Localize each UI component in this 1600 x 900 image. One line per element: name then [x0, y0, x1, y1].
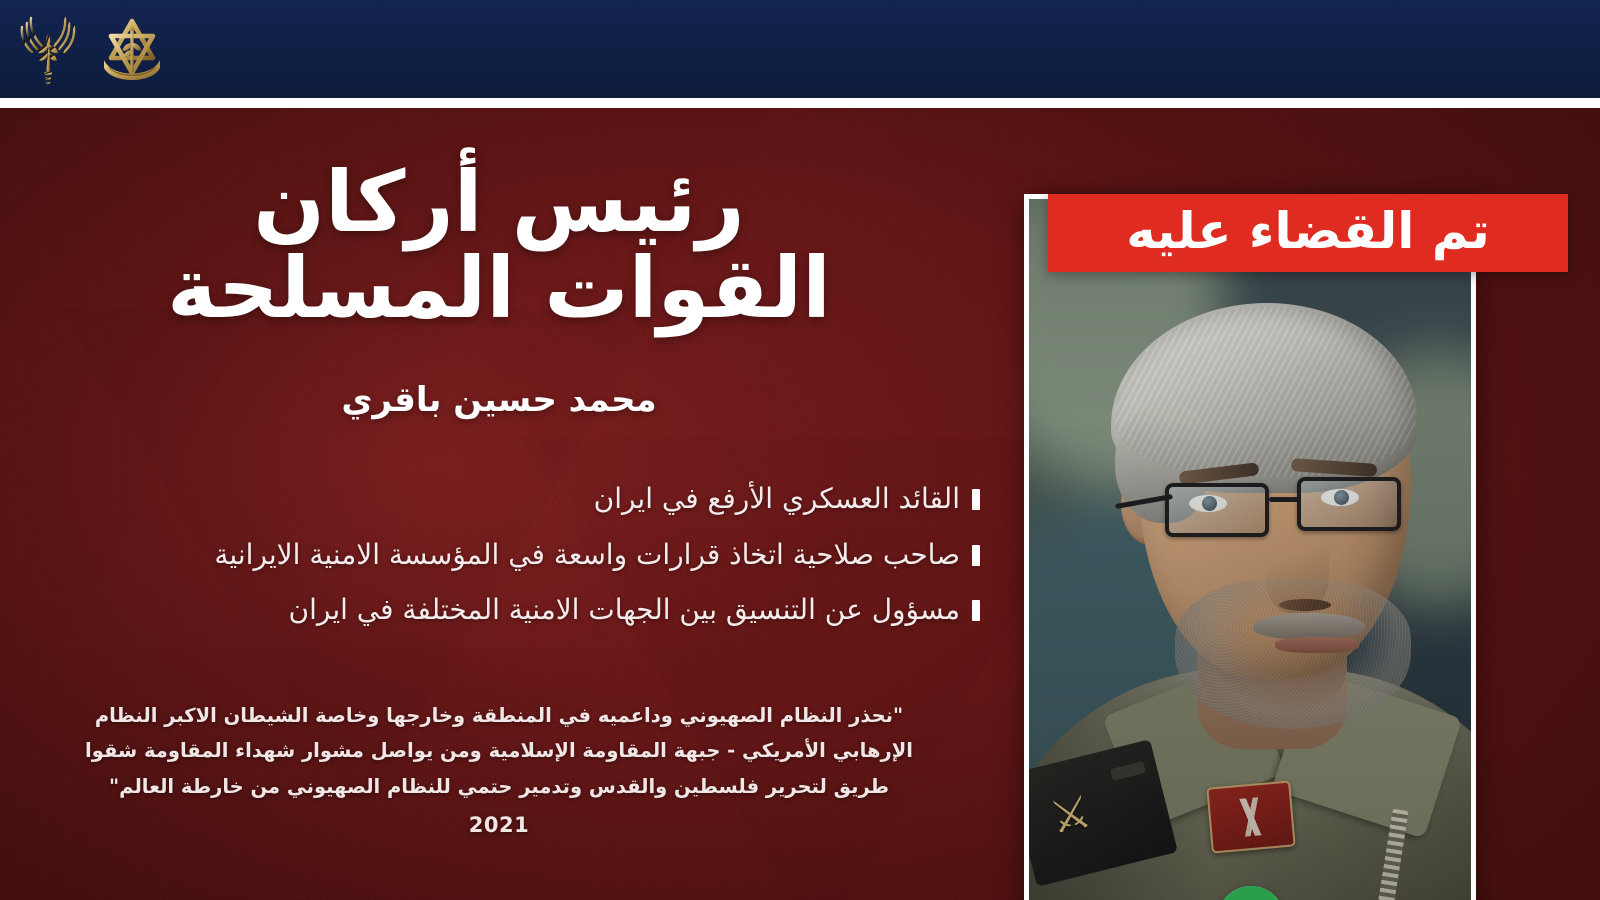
page-title: رئيس أركان القوات المسلحة — [0, 160, 980, 331]
rank-insignia-icon: ⚔ — [1040, 786, 1101, 846]
iran-flag-badge: ڤ — [1217, 886, 1285, 900]
title-line-1: رئيس أركان — [253, 153, 744, 251]
list-item: صاحب صلاحية اتخاذ قرارات واسعة في المؤسس… — [20, 536, 980, 574]
eyeglass-lens-left — [1165, 483, 1269, 537]
person-name: محمد حسين باقري — [0, 380, 980, 420]
idf-star-emblem — [96, 12, 168, 88]
quote-year: 2021 — [78, 806, 920, 844]
portrait-figure: ⚔ — [1029, 199, 1471, 900]
poster-root: رئيس أركان القوات المسلحة محمد حسين باقر… — [0, 0, 1600, 900]
list-item-label: القائد العسكري الأرفع في ايران — [20, 480, 960, 518]
quote-text: "نحذر النظام الصهيوني وداعميه في المنطقة… — [85, 704, 913, 798]
text-column: رئيس أركان القوات المسلحة محمد حسين باقر… — [0, 108, 980, 900]
bullet-marker-icon — [972, 489, 980, 510]
idf-spokesperson-emblem — [18, 12, 78, 88]
portrait-frame: ⚔ — [1024, 194, 1476, 900]
list-item: القائد العسكري الأرفع في ايران — [20, 480, 980, 518]
quote-block: "نحذر النظام الصهيوني وداعميه في المنطقة… — [0, 698, 980, 845]
status-badge-label: تم القضاء عليه — [1126, 206, 1490, 260]
title-line-2: القوات المسلحة — [18, 246, 980, 332]
portrait-block: ⚔ — [1024, 194, 1476, 900]
uniform-chest-patch — [1206, 780, 1295, 853]
mustache — [1253, 613, 1365, 639]
portrait-photo: ⚔ — [1029, 199, 1471, 900]
poster-body: رئيس أركان القوات المسلحة محمد حسين باقر… — [0, 108, 1600, 900]
header-separator — [0, 98, 1600, 108]
bullet-marker-icon — [972, 600, 980, 621]
mouth — [1275, 637, 1359, 653]
top-header-bar — [0, 0, 1600, 98]
bullet-marker-icon — [972, 545, 980, 566]
list-item-label: صاحب صلاحية اتخاذ قرارات واسعة في المؤسس… — [20, 536, 960, 574]
list-item: مسؤول عن التنسيق بين الجهات الامنية المخ… — [20, 591, 980, 629]
list-item-label: مسؤول عن التنسيق بين الجهات الامنية المخ… — [20, 591, 960, 629]
status-badge: تم القضاء عليه — [1048, 194, 1568, 272]
header-logo-group — [18, 12, 168, 88]
fact-list: القائد العسكري الأرفع في ايران صاحب صلاح… — [0, 480, 980, 647]
